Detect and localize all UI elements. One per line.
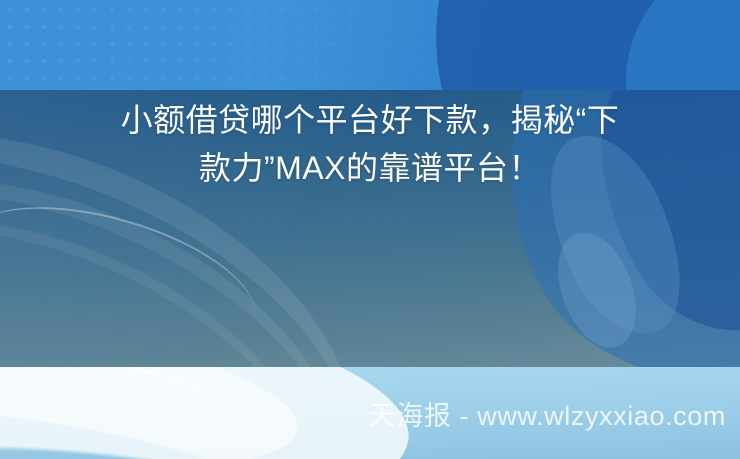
title-line-2: 款力”MAX的靠谱平台！ (40, 144, 700, 192)
dot-grid-pattern (0, 0, 460, 90)
title-line-1: 小额借贷哪个平台好下款，揭秘“下 (40, 96, 700, 144)
poster-title: 小额借贷哪个平台好下款，揭秘“下 款力”MAX的靠谱平台！ (0, 96, 740, 192)
poster-image: 小额借贷哪个平台好下款，揭秘“下 款力”MAX的靠谱平台！ 天海报 - www.… (0, 0, 740, 459)
watermark-band: 天海报 - www.wlzyxxiao.com (0, 367, 740, 459)
watermark-text: 天海报 - www.wlzyxxiao.com (0, 367, 740, 459)
top-decorative-band (0, 0, 740, 90)
